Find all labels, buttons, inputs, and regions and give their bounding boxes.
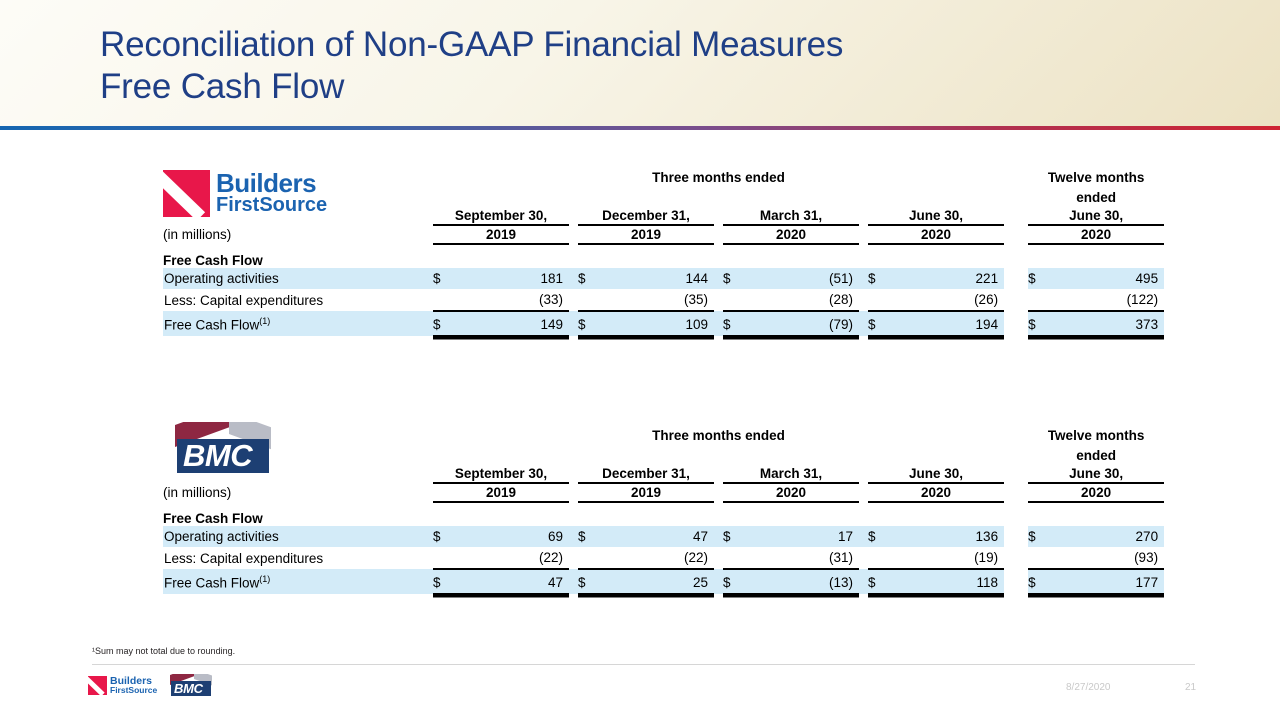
footer-page-number: 21 [1185, 682, 1196, 693]
row-value: (19) [896, 547, 1004, 569]
col-header-date-4: June 30, [1028, 466, 1164, 483]
group-header-row-2: ended [163, 446, 1164, 466]
group-header-row: Three months ended Twelve months [163, 428, 1164, 446]
col-header-year-4: 2020 [1028, 483, 1164, 502]
col-header-date-3: June 30, [868, 466, 1004, 483]
row-value: 373 [1056, 311, 1164, 336]
section-title: Free Cash Flow [163, 244, 1164, 268]
row-currency: $ [433, 569, 461, 594]
group-header-twelve-months-line1: Twelve months [1028, 170, 1164, 188]
col-header-date-4: June 30, [1028, 208, 1164, 225]
footer-bmc-logo: BMC [170, 674, 212, 698]
row-currency: $ [1028, 526, 1056, 547]
year-header-row: (in millions) 2019 2019 2020 2020 2020 [163, 225, 1164, 244]
col-header-year-0: 2019 [433, 483, 569, 502]
bfs-financial-table: Three months ended Twelve months ended S… [163, 170, 1164, 337]
col-header-year-1: 2019 [578, 225, 714, 244]
col-header-date-0: September 30, [433, 466, 569, 483]
row-value: 177 [1056, 569, 1164, 594]
group-header-twelve-months-line1: Twelve months [1028, 428, 1164, 446]
row-value: 495 [1056, 268, 1164, 289]
row-value: (51) [751, 268, 859, 289]
row-value: (22) [606, 547, 714, 569]
group-header-row: Three months ended Twelve months [163, 170, 1164, 188]
row-label: Free Cash Flow(1) [163, 311, 433, 336]
row-value: 69 [461, 526, 569, 547]
row-value: (35) [606, 289, 714, 311]
row-value: (79) [751, 311, 859, 336]
row-currency: $ [578, 526, 606, 547]
page-title: Reconciliation of Non-GAAP Financial Mea… [100, 24, 843, 108]
bmc-financial-table: Three months ended Twelve months ended S… [163, 428, 1164, 595]
footer-bmc-text: BMC [174, 681, 203, 696]
units-label: (in millions) [163, 483, 433, 502]
row-value: 47 [461, 569, 569, 594]
col-header-year-2: 2020 [723, 225, 859, 244]
row-currency: $ [433, 268, 461, 289]
table-row: Operating activities $ 181 $ 144 $ (51) … [163, 268, 1164, 289]
col-header-year-1: 2019 [578, 483, 714, 502]
row-label: Operating activities [163, 526, 433, 547]
group-header-row-2: ended [163, 188, 1164, 208]
row-currency: $ [868, 268, 896, 289]
group-header-three-months: Three months ended [433, 170, 1004, 188]
row-label: Operating activities [163, 268, 433, 289]
footnote-marker: (1) [259, 574, 270, 584]
row-currency: $ [1028, 311, 1056, 336]
footer-bfs-firstsource-text: FirstSource [110, 685, 157, 695]
row-currency: $ [433, 526, 461, 547]
row-currency: $ [868, 569, 896, 594]
row-value: 136 [896, 526, 1004, 547]
row-value: 270 [1056, 526, 1164, 547]
row-value: 17 [751, 526, 859, 547]
row-value: (31) [751, 547, 859, 569]
col-header-date-0: September 30, [433, 208, 569, 225]
group-header-twelve-months-line2: ended [1028, 446, 1164, 466]
row-value: (33) [461, 289, 569, 311]
row-currency: $ [868, 526, 896, 547]
row-currency: $ [723, 268, 751, 289]
row-currency: $ [433, 311, 461, 336]
row-label: Free Cash Flow(1) [163, 569, 433, 594]
col-header-year-0: 2019 [433, 225, 569, 244]
row-currency: $ [723, 526, 751, 547]
row-value: 149 [461, 311, 569, 336]
units-label: (in millions) [163, 225, 433, 244]
row-value: 221 [896, 268, 1004, 289]
row-label: Less: Capital expenditures [163, 289, 433, 311]
page-title-line-1: Reconciliation of Non-GAAP Financial Mea… [100, 24, 843, 66]
col-header-year-4: 2020 [1028, 225, 1164, 244]
row-value: (122) [1056, 289, 1164, 311]
row-value: 181 [461, 268, 569, 289]
table-row-total: Free Cash Flow(1) $ 47 $ 25 $ (13) $ 118… [163, 569, 1164, 594]
date-header-row: September 30, December 31, March 31, Jun… [163, 466, 1164, 483]
section-title-row: Free Cash Flow [163, 244, 1164, 268]
row-label: Less: Capital expenditures [163, 547, 433, 569]
table-row-total: Free Cash Flow(1) $ 149 $ 109 $ (79) $ 1… [163, 311, 1164, 336]
col-header-date-3: June 30, [868, 208, 1004, 225]
col-header-year-3: 2020 [868, 225, 1004, 244]
row-value: 144 [606, 268, 714, 289]
row-currency: $ [578, 268, 606, 289]
group-header-twelve-months-line2: ended [1028, 188, 1164, 208]
row-value: (13) [751, 569, 859, 594]
slide-header: Reconciliation of Non-GAAP Financial Mea… [0, 0, 1280, 126]
table-row: Less: Capital expenditures (22) (22) (31… [163, 547, 1164, 569]
row-value: 25 [606, 569, 714, 594]
row-currency: $ [1028, 268, 1056, 289]
row-value: 109 [606, 311, 714, 336]
table-row: Less: Capital expenditures (33) (35) (28… [163, 289, 1164, 311]
footer-divider [92, 664, 1195, 665]
header-accent-bar [0, 126, 1280, 130]
row-currency: $ [723, 569, 751, 594]
row-currency: $ [1028, 569, 1056, 594]
row-value: (22) [461, 547, 569, 569]
row-value: 194 [896, 311, 1004, 336]
table-row: Operating activities $ 69 $ 47 $ 17 $ 13… [163, 526, 1164, 547]
page-title-line-2: Free Cash Flow [100, 66, 843, 108]
group-header-three-months: Three months ended [433, 428, 1004, 446]
col-header-date-2: March 31, [723, 466, 859, 483]
footer-bfs-logo-mark-icon [88, 676, 107, 695]
footer-date: 8/27/2020 [1066, 682, 1111, 693]
section-title: Free Cash Flow [163, 502, 1164, 526]
row-value: 47 [606, 526, 714, 547]
footnote-marker: (1) [259, 316, 270, 326]
bmc-logo-text: BMC [183, 439, 252, 473]
row-value: (28) [751, 289, 859, 311]
section-title-row: Free Cash Flow [163, 502, 1164, 526]
row-value: 118 [896, 569, 1004, 594]
footer-builders-firstsource-logo: Builders FirstSource [88, 676, 158, 698]
row-value: (93) [1056, 547, 1164, 569]
col-header-year-2: 2020 [723, 483, 859, 502]
col-header-date-1: December 31, [578, 208, 714, 225]
col-header-date-1: December 31, [578, 466, 714, 483]
footnote: ¹Sum may not total due to rounding. [92, 646, 235, 656]
col-header-year-3: 2020 [868, 483, 1004, 502]
row-currency: $ [578, 311, 606, 336]
year-header-row: (in millions) 2019 2019 2020 2020 2020 [163, 483, 1164, 502]
row-currency: $ [868, 311, 896, 336]
row-value: (26) [896, 289, 1004, 311]
col-header-date-2: March 31, [723, 208, 859, 225]
row-currency: $ [723, 311, 751, 336]
date-header-row: September 30, December 31, March 31, Jun… [163, 208, 1164, 225]
row-currency: $ [578, 569, 606, 594]
